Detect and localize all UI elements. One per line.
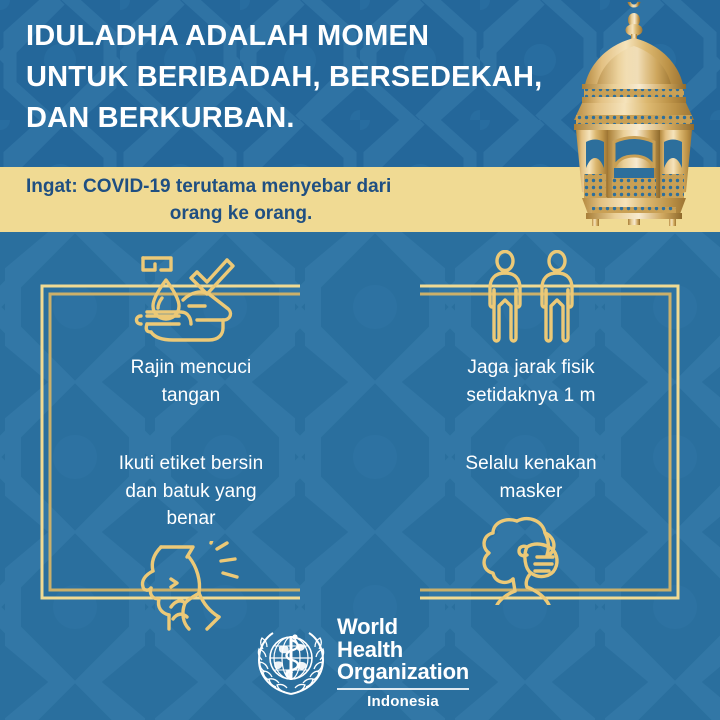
headline-line-2: UNTUK BERIBADAH, BERSEDEKAH, bbox=[26, 61, 542, 93]
tile-cough-etiquette: Ikuti etiket bersin dan batuk yang benar bbox=[88, 450, 294, 633]
label-line-2: setidaknya 1 m bbox=[466, 385, 595, 406]
who-name-line-2: Organization bbox=[337, 661, 469, 684]
who-country-label: Indonesia bbox=[337, 693, 469, 710]
label-line-2: dan batuk yang bbox=[125, 481, 256, 502]
who-name-line-1: World Health bbox=[337, 616, 469, 662]
lantern-icon bbox=[548, 2, 720, 232]
poster-canvas: IDULADHA ADALAH MOMEN UNTUK BERIBADAH, B… bbox=[0, 0, 720, 720]
who-logo: World Health Organization Indonesia bbox=[255, 624, 467, 702]
physical-distancing-icon bbox=[471, 250, 591, 346]
tile-label-cough-etiquette: Ikuti etiket bersin dan batuk yang benar bbox=[88, 450, 294, 533]
guidance-section: Rajin mencuci tangan bbox=[0, 232, 720, 720]
who-emblem-icon bbox=[255, 628, 327, 698]
tile-wear-mask: Selalu kenakan masker bbox=[428, 450, 634, 605]
tile-label-physical-distancing: Jaga jarak fisik setidaknya 1 m bbox=[428, 354, 634, 409]
tile-handwashing: Rajin mencuci tangan bbox=[88, 250, 294, 409]
tile-physical-distancing: Jaga jarak fisik setidaknya 1 m bbox=[428, 250, 634, 409]
label-line-1: Selalu kenakan bbox=[465, 453, 596, 474]
cough-etiquette-icon bbox=[131, 541, 251, 633]
tile-label-wear-mask: Selalu kenakan masker bbox=[428, 450, 634, 505]
who-divider bbox=[337, 688, 469, 690]
label-line-2: tangan bbox=[162, 385, 221, 406]
headline-line-3: DAN BERKURBAN. bbox=[26, 102, 295, 134]
headline-line-1: IDULADHA ADALAH MOMEN bbox=[26, 20, 429, 52]
reminder-text: Ingat: COVID-19 terutama menyebar dari o… bbox=[26, 174, 526, 228]
handwashing-icon bbox=[131, 250, 251, 346]
label-line-1: Ikuti etiket bersin bbox=[119, 453, 263, 474]
label-line-3: benar bbox=[166, 508, 215, 529]
tile-label-handwashing: Rajin mencuci tangan bbox=[88, 354, 294, 409]
reminder-line-2: orang ke orang. bbox=[26, 201, 526, 228]
reminder-line-1: Ingat: COVID-19 terutama menyebar dari bbox=[26, 174, 526, 201]
label-line-2: masker bbox=[500, 481, 563, 502]
label-line-1: Rajin mencuci bbox=[131, 357, 252, 378]
face-mask-icon bbox=[471, 513, 591, 605]
page-title: IDULADHA ADALAH MOMEN UNTUK BERIBADAH, B… bbox=[26, 16, 546, 140]
who-wordmark: World Health Organization Indonesia bbox=[337, 616, 469, 711]
label-line-1: Jaga jarak fisik bbox=[467, 357, 594, 378]
